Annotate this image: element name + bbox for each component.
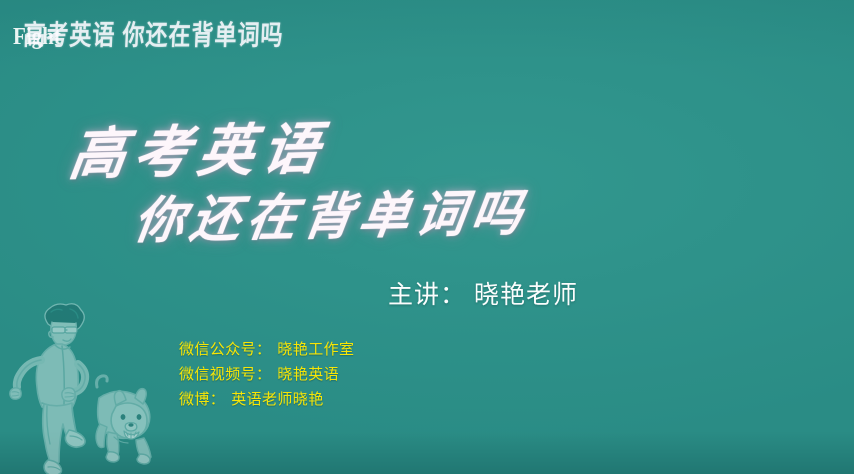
glasses-left-lens [52, 327, 65, 333]
dog-eye-right [137, 414, 142, 420]
runner-shoe-front [65, 430, 85, 447]
contact-value: 英语老师晓艳 [231, 388, 323, 409]
page-title-line-2: 你还在背单词吗 [131, 188, 531, 246]
contact-value: 晓艳英语 [277, 363, 339, 384]
jogger-with-dog-illustration [4, 302, 172, 474]
contact-row-wechat-official: 微信公众号： 晓艳工作室 [179, 338, 354, 363]
contact-info-block: 微信公众号： 晓艳工作室 微信视频号： 晓艳英语 微博： 英语老师晓艳 [179, 338, 354, 413]
contact-value: 晓艳工作室 [277, 338, 354, 359]
dog-head [111, 403, 147, 438]
watermark-cjk-text: 高考英语 你还在背单词吗 [23, 22, 284, 50]
watermark-overlay: Fight 高考英语 你还在背单词吗 [12, 13, 312, 51]
contact-row-weibo: 微博： 英语老师晓艳 [179, 388, 354, 413]
contact-label: 微信视频号： [179, 363, 271, 384]
dog-eye-left [121, 414, 126, 420]
course-title-slide: Fight 高考英语 你还在背单词吗 高考英语 你还在背单词吗 主讲： 晓艳老师… [0, 0, 854, 474]
dog-leg-hind [96, 424, 107, 448]
page-title-line-1: 高考英语 [66, 122, 330, 184]
dog-nose [128, 423, 133, 426]
dog-paw-left [106, 452, 119, 462]
contact-label: 微信公众号： [179, 338, 271, 359]
contact-label: 微博： [179, 388, 225, 409]
contact-row-wechat-video: 微信视频号： 晓艳英语 [179, 363, 354, 388]
dog-tail [97, 376, 108, 387]
runner-fist-front [62, 388, 75, 401]
illustration-strokes [10, 304, 151, 474]
runner-fist-back [10, 388, 21, 399]
presenter-credit: 主讲： 晓艳老师 [388, 275, 578, 311]
dog-paw-right [137, 454, 150, 464]
